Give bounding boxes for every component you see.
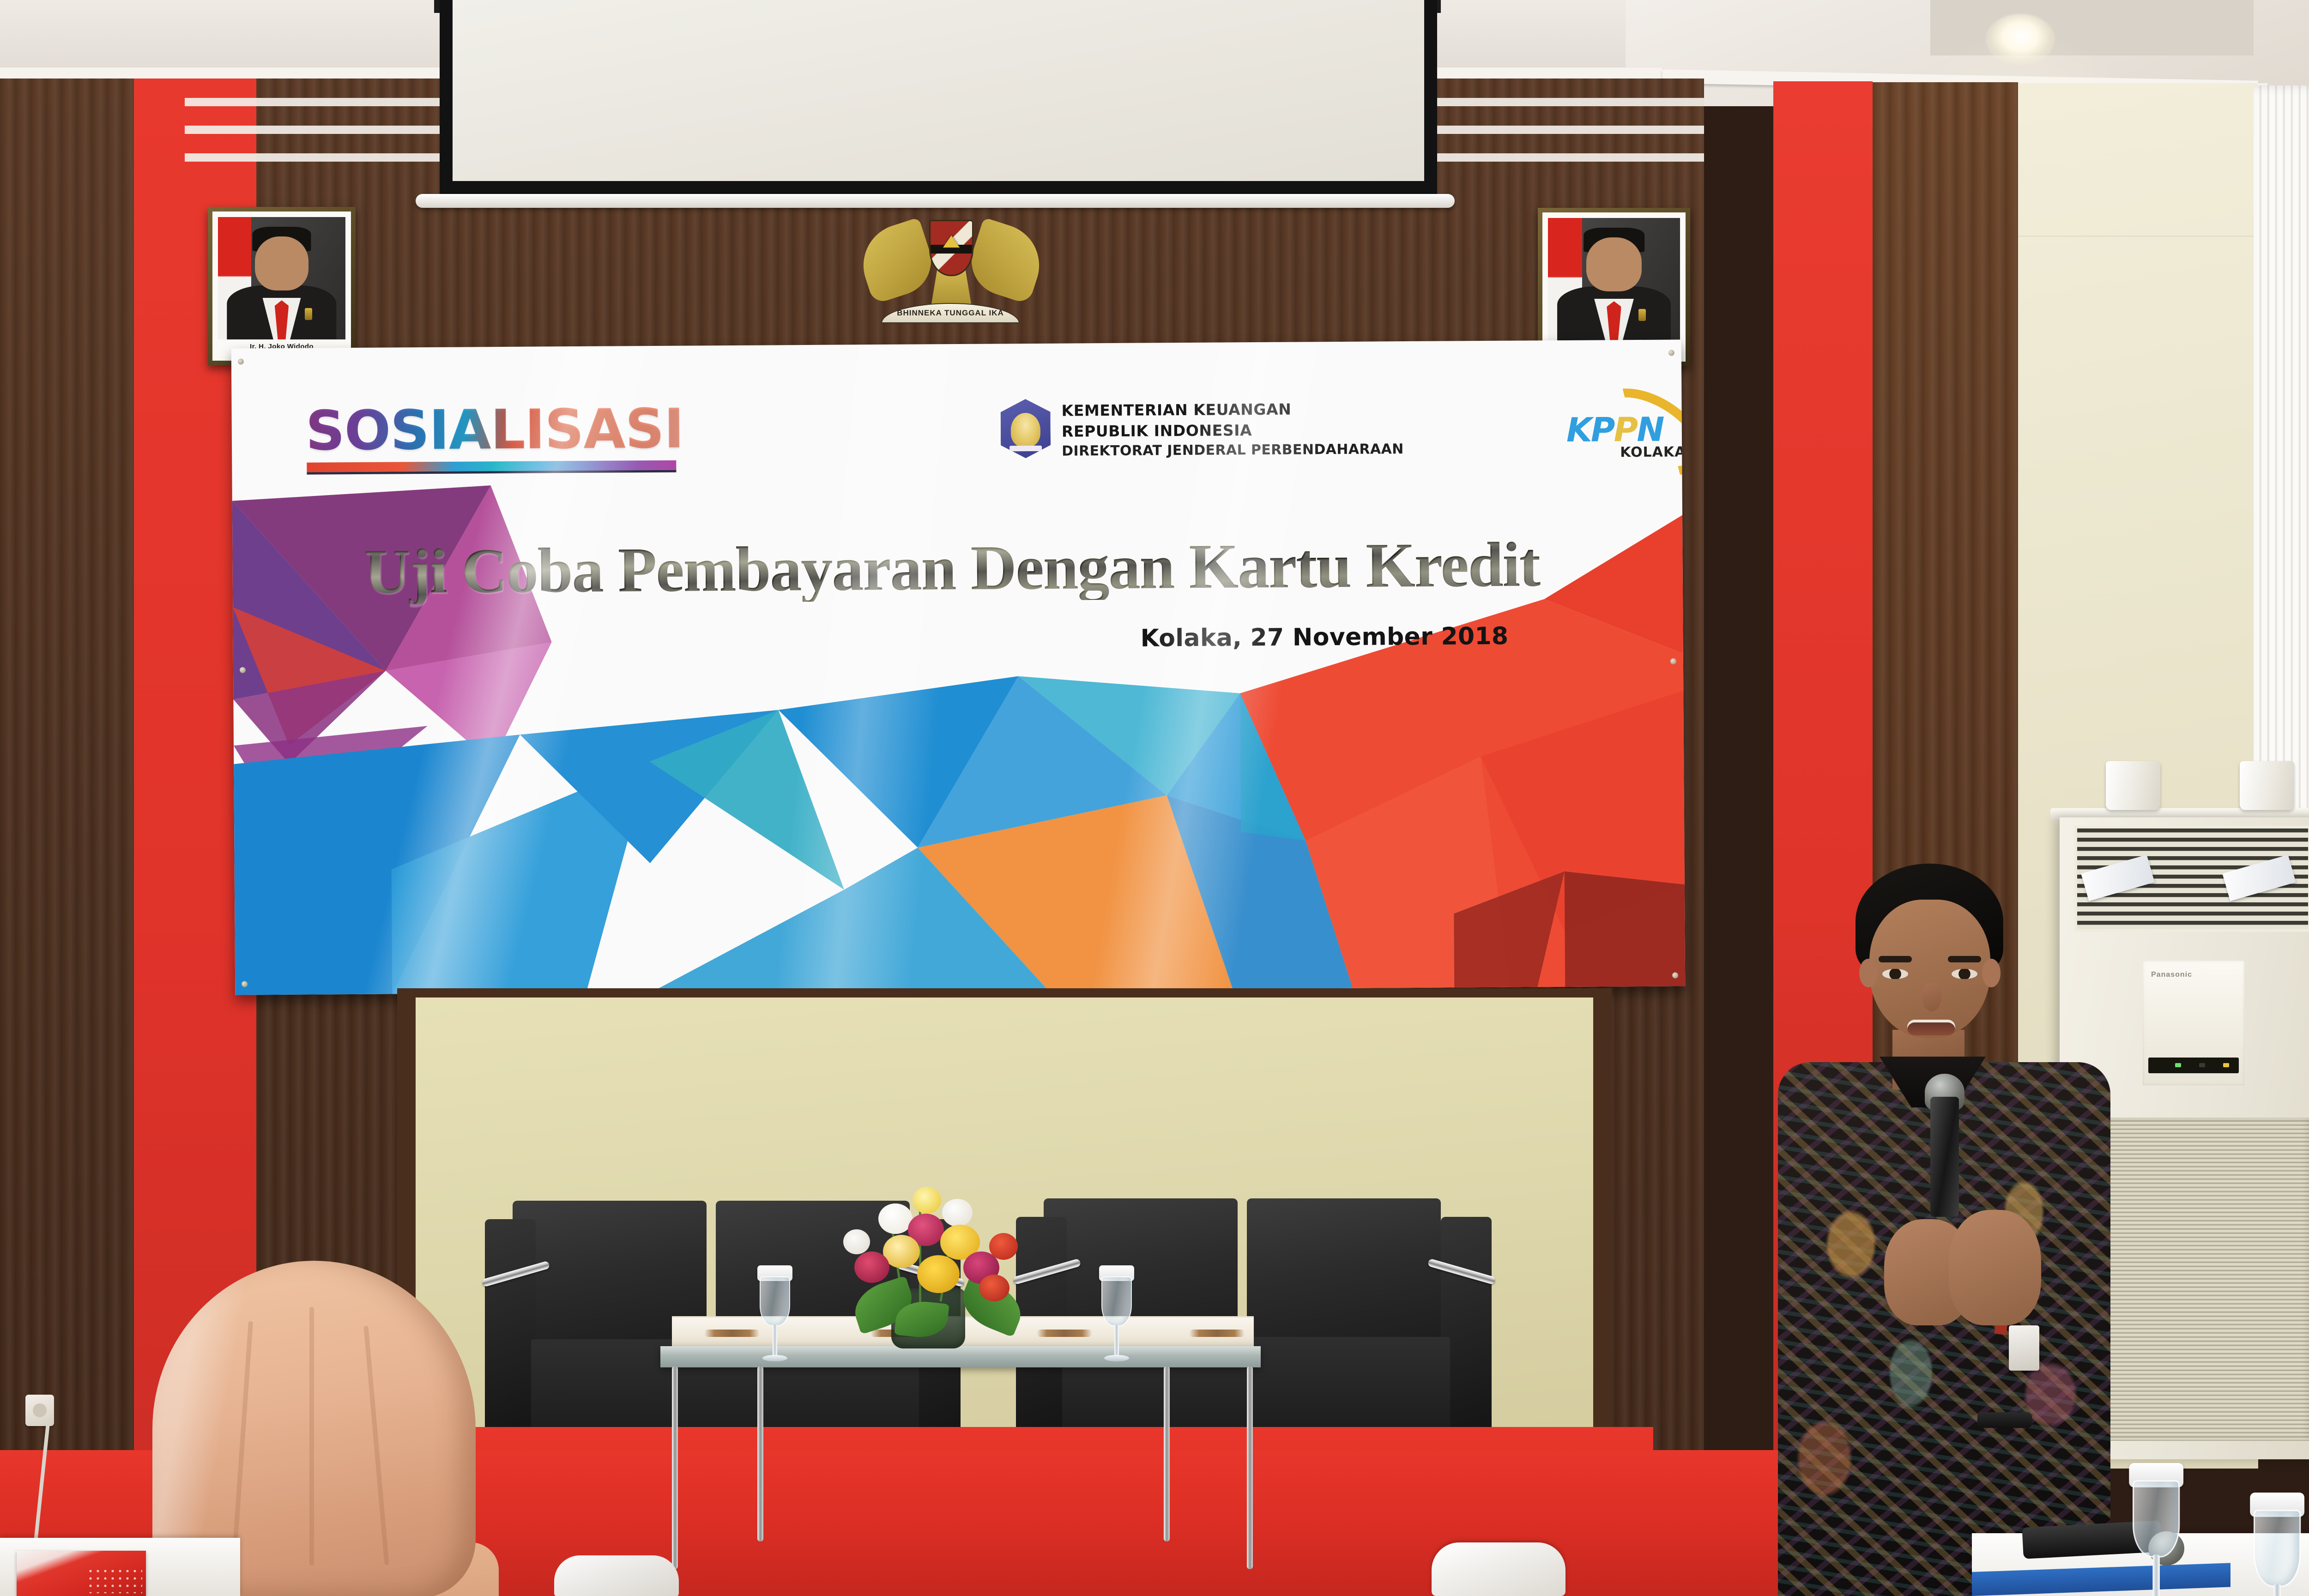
- projector-screen-bottom-bar[interactable]: [416, 194, 1455, 208]
- speaker-mouth: [1907, 1020, 1955, 1035]
- speaker-nose: [1922, 983, 1941, 1011]
- glass-cup: [760, 1276, 790, 1326]
- flower-yellow: [913, 1187, 941, 1214]
- glass-cup: [2254, 1510, 2301, 1587]
- portrait-medal-icon: [305, 308, 312, 320]
- table-leg: [672, 1366, 678, 1569]
- ac-item-cylinder[interactable]: [2106, 761, 2160, 810]
- banner-title: Uji Coba Pembayaran Dengan Kartu Kredit: [364, 532, 1547, 604]
- garuda-wing-right: [962, 217, 1050, 304]
- portrait-face: [255, 236, 308, 290]
- table-leg: [1164, 1366, 1170, 1542]
- glass-cup: [2133, 1480, 2180, 1557]
- portrait-mat: Ir. H. Joko Widodo Presiden Republik Ind…: [212, 212, 351, 361]
- banner-kicker-rule: [307, 460, 676, 475]
- glass-coffee-table-top[interactable]: [660, 1346, 1261, 1367]
- hijab-fold: [309, 1307, 314, 1566]
- ac-item-cylinder[interactable]: [2240, 761, 2294, 810]
- speaker-face: [1869, 900, 1990, 1038]
- projector-screen-surface[interactable]: [453, 0, 1424, 181]
- table-leg: [1247, 1366, 1253, 1569]
- banner-grommet: [1668, 350, 1674, 356]
- framed-portrait-president: Ir. H. Joko Widodo Presiden Republik Ind…: [208, 207, 356, 365]
- garuda-motto-scroll: BHINNEKA TUNGGAL IKA: [881, 303, 1020, 323]
- runner-motif: [1189, 1330, 1245, 1337]
- speaker-eyebrow-right: [1948, 956, 1981, 962]
- ceiling-spotlight-icon: [1986, 14, 2055, 65]
- ministry-line-1: KEMENTERIAN KEUANGAN: [1061, 399, 1403, 420]
- snack-box[interactable]: [17, 1551, 146, 1596]
- table-leg: [757, 1366, 763, 1542]
- speaker-eye-right: [1952, 969, 1977, 979]
- flower-red: [989, 1233, 1018, 1260]
- kppn-wordmark: KPPN: [1566, 410, 1663, 449]
- kppn-letters-1: KP: [1566, 410, 1614, 449]
- foreground-chair-white[interactable]: [1432, 1542, 1566, 1596]
- kppn-letters-2: P: [1614, 410, 1637, 449]
- microphone-body[interactable]: [1930, 1097, 1959, 1217]
- seminar-room-scene: BHINNEKA TUNGGAL IKA Ir. H. Joko Widodo …: [0, 0, 2309, 1596]
- flower-white: [843, 1229, 870, 1254]
- glass-cup: [1101, 1276, 1132, 1326]
- runner-motif: [704, 1330, 760, 1337]
- speaker-person: [1769, 864, 2120, 1596]
- portrait-photo: [1548, 218, 1680, 340]
- flower-red: [979, 1275, 1009, 1301]
- portrait-mat: Drs. H. M. Jusuf Kalla Wakil Presiden Re…: [1542, 212, 1686, 362]
- portrait-face: [1586, 237, 1642, 291]
- ac-control-panel[interactable]: Panasonic: [2143, 961, 2244, 1085]
- flower-white: [942, 1199, 973, 1227]
- wall-power-socket[interactable]: [25, 1395, 54, 1426]
- portrait-photo: [218, 217, 345, 339]
- flower-magenta: [854, 1251, 889, 1283]
- id-badge: [2009, 1325, 2039, 1371]
- armchair-arm-left: [485, 1219, 536, 1450]
- banner-grommet: [242, 981, 248, 987]
- flower-arrangement: [827, 1187, 1044, 1344]
- glass-foot: [762, 1355, 787, 1361]
- speaker-eyebrow-left: [1879, 956, 1912, 962]
- speaker-hand-right: [1949, 1210, 2041, 1325]
- speaker-ear-left: [1859, 959, 1878, 987]
- portrait-medal-icon: [1638, 309, 1646, 321]
- runner-motif: [1037, 1330, 1092, 1337]
- ac-led-off-icon: [2199, 1063, 2205, 1067]
- glass-stem: [773, 1324, 777, 1357]
- foreground-chair-white[interactable]: [554, 1555, 679, 1596]
- kppn-logo: KPPN KOLAKA: [1561, 399, 1685, 470]
- glass-foot: [1104, 1355, 1129, 1361]
- event-banner: SOSIALISASI KEMENTERIAN KEUANGAN REPUBLI…: [231, 339, 1685, 995]
- ac-led-amber-icon: [2223, 1063, 2229, 1067]
- ac-display: [2148, 1058, 2239, 1073]
- ministry-block: KEMENTERIAN KEUANGAN REPUBLIK INDONESIA …: [1000, 397, 1403, 459]
- banner-kicker: SOSIALISASI: [305, 397, 684, 463]
- glass-stem: [2152, 1554, 2160, 1596]
- banner-grommet: [1670, 659, 1676, 665]
- banner-grommet: [238, 358, 244, 364]
- flower-white: [878, 1203, 913, 1234]
- glass-stem: [1114, 1324, 1119, 1357]
- snack-box-pattern: [87, 1567, 142, 1593]
- garuda-star-icon: [943, 236, 960, 248]
- kppn-subtitle: KOLAKA: [1620, 444, 1685, 460]
- glass-stem: [2273, 1584, 2281, 1596]
- kemenkeu-logo-icon: [1000, 399, 1051, 459]
- banner-grommet: [240, 667, 246, 673]
- wrist-watch-icon: [1977, 1412, 2032, 1428]
- ministry-line-2: REPUBLIK INDONESIA: [1062, 420, 1404, 441]
- garuda-shield: [929, 220, 973, 276]
- ministry-text-lines: KEMENTERIAN KEUANGAN REPUBLIK INDONESIA …: [1061, 397, 1403, 459]
- banner-place-date: Kolaka, 27 November 2018: [1140, 623, 1508, 653]
- banner-grommet: [1672, 972, 1678, 978]
- ac-led-green-icon: [2175, 1063, 2181, 1067]
- speaker-eye-left: [1882, 969, 1908, 979]
- garuda-wing-left: [852, 217, 940, 304]
- ministry-line-3: DIREKTORAT JENDERAL PERBENDAHARAAN: [1062, 441, 1404, 459]
- armchair-backrest: [1247, 1198, 1441, 1346]
- garuda-pancasila-emblem: BHINNEKA TUNGGAL IKA: [859, 217, 1044, 337]
- ac-brand-label: Panasonic: [2151, 971, 2192, 979]
- speaker-ear-right: [1982, 959, 2001, 987]
- kppn-letters-3: N: [1637, 410, 1663, 449]
- flower-yellow: [917, 1255, 960, 1293]
